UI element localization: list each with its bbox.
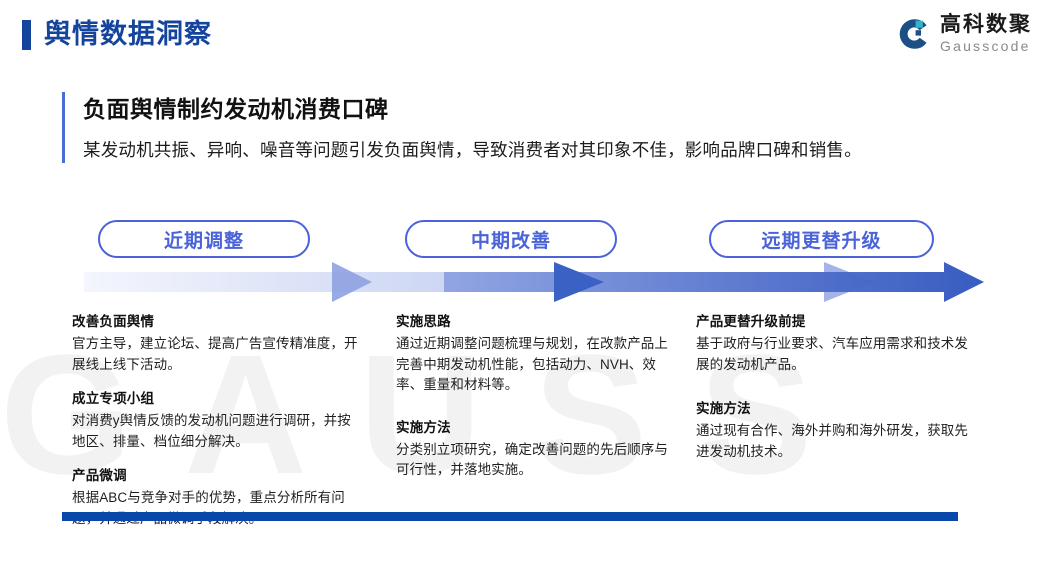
detail-block: 实施方法 分类别立项研究，确定改善问题的先后顺序与可行性，并落地实施。 [396,418,676,481]
detail-block-title: 成立专项小组 [72,389,362,409]
detail-block-body: 官方主导，建立论坛、提高广告宣传精准度，开展线上线下活动。 [72,334,362,375]
detail-block: 实施方法 通过现有合作、海外并购和海外研发，获取先进发动机技术。 [696,399,981,462]
detail-block-body: 对消费y舆情反馈的发动机问题进行调研，并按地区、排量、档位细分解决。 [72,411,362,452]
brand-name-en: Gausscode [940,39,1032,53]
detail-block-body: 通过近期调整问题梳理与规划，在改款产品上完善中期发动机性能，包括动力、NVH、效… [396,334,676,396]
stage-column-long-term: 产品更替升级前提 基于政府与行业要求、汽车应用需求和技术发展的发动机产品。 实施… [696,312,981,462]
detail-block: 产品更替升级前提 基于政府与行业要求、汽车应用需求和技术发展的发动机产品。 [696,312,981,375]
lead-subtitle: 某发动机共振、异响、噪音等问题引发负面舆情，导致消费者对其印象不佳，影响品牌口碑… [83,137,1033,163]
stage-pill-long-term[interactable]: 远期更替升级 [709,220,934,258]
detail-block-title: 产品更替升级前提 [696,312,981,332]
stage-pill-near-term[interactable]: 近期调整 [98,220,310,258]
slide-root: GAUSS 舆情数据洞察 高科数聚 Gausscode 负面舆情制约发动机消费口… [0,0,1050,588]
detail-block: 改善负面舆情 官方主导，建立论坛、提高广告宣传精准度，开展线上线下活动。 [72,312,362,375]
brand-name-cn: 高科数聚 [940,14,1032,35]
header-accent-bar [22,20,31,50]
stage-pill-group: 近期调整 中期改善 远期更替升级 [0,220,1050,260]
stage-column-mid-term: 实施思路 通过近期调整问题梳理与规划，在改款产品上完善中期发动机性能，包括动力、… [396,312,676,481]
lead-title: 负面舆情制约发动机消费口碑 [83,92,1033,126]
detail-block-title: 实施思路 [396,312,676,332]
stage-pill-mid-term[interactable]: 中期改善 [405,220,617,258]
detail-block-title: 实施方法 [696,399,981,419]
detail-block-title: 产品微调 [72,466,362,486]
detail-block-body: 根据ABC与竞争对手的优势，重点分析所有问题，并通过产品微调手段解决。 [72,488,362,529]
gausscode-logo-icon [896,16,932,52]
stage-column-near-term: 改善负面舆情 官方主导，建立论坛、提高广告宣传精准度，开展线上线下活动。 成立专… [72,312,362,529]
detail-block-body: 分类别立项研究，确定改善问题的先后顺序与可行性，并落地实施。 [396,440,676,481]
detail-block: 成立专项小组 对消费y舆情反馈的发动机问题进行调研，并按地区、排量、档位细分解决… [72,389,362,452]
stage-detail-columns: 改善负面舆情 官方主导，建立论坛、提高广告宣传精准度，开展线上线下活动。 成立专… [0,312,1050,492]
detail-block-body: 基于政府与行业要求、汽车应用需求和技术发展的发动机产品。 [696,334,981,375]
lead-block: 负面舆情制约发动机消费口碑 某发动机共振、异响、噪音等问题引发负面舆情，导致消费… [62,92,1033,163]
brand-logo: 高科数聚 Gausscode [896,14,1032,53]
detail-block: 实施思路 通过近期调整问题梳理与规划，在改款产品上完善中期发动机性能，包括动力、… [396,312,676,396]
detail-block-title: 实施方法 [396,418,676,438]
slide-header: 舆情数据洞察 [0,0,1050,72]
page-title: 舆情数据洞察 [44,16,212,52]
detail-block-body: 通过现有合作、海外并购和海外研发，获取先进发动机技术。 [696,421,981,462]
brand-logo-text: 高科数聚 Gausscode [940,14,1032,53]
detail-block-title: 改善负面舆情 [72,312,362,332]
footer-accent-bar [62,512,958,521]
timeline-arrow [84,262,984,302]
